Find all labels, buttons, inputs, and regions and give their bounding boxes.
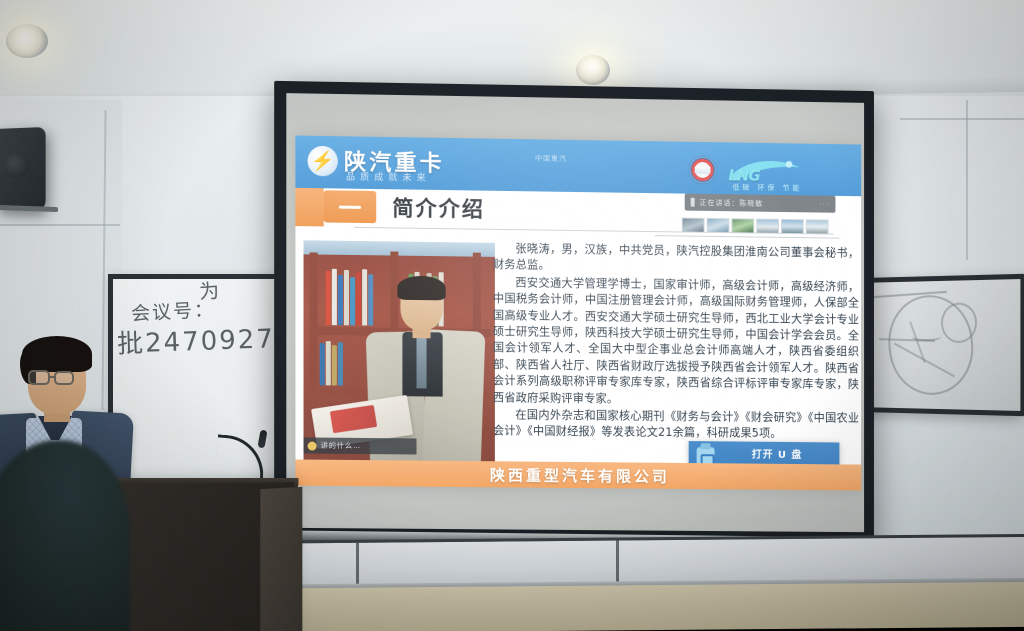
ceiling-downlight-2 [576, 55, 610, 85]
emoji-icon [308, 441, 317, 450]
portrait-photo: 讲的什么… [304, 240, 495, 477]
slide-body-text: 张晓涛，男，汉族，中共党员，陕汽控股集团淮南公司董事会秘书，财务总监。 西安交通… [493, 241, 859, 445]
body-paragraph-2: 西安交通大学管理学博士，国家审计师，高级会计师，高级经济师，中国税务会计师，中国… [493, 275, 859, 410]
partner-logo-subtitle: 低碳 环保 节能 [732, 182, 802, 193]
lightning-circle-icon: ⚡ [308, 146, 338, 177]
brand-logo-subtitle: 品质成就未来 [346, 169, 431, 183]
whiteboard-doodle-circle-small [941, 302, 977, 343]
thumbnail-divider [655, 235, 840, 239]
whiteboard-right [858, 274, 1024, 417]
subject-hair [397, 276, 445, 301]
truck-thumbnail-5 [781, 219, 804, 234]
section-number-tab [324, 190, 376, 223]
body-paragraph-3: 在国内外杂志和国家核心期刊《财务与会计》《财会研究》《中国农业会计》《中国财经报… [493, 407, 859, 443]
whiteboard-mark-5 [912, 329, 941, 341]
podium-side-panel [260, 487, 302, 631]
presenter-glasses-bridge [49, 376, 56, 378]
wall-seam-horizontal-left [0, 224, 120, 226]
speaking-status-text: 正在讲话：陈晓敏 [700, 197, 764, 208]
projection-screen-frame: ⚡ 陕汽重卡 品质成就未来 中国重汽 LNG 低碳 环保 节能 [274, 81, 874, 544]
photo-caption-text: 讲的什么… [321, 441, 361, 451]
usb-toast-title: 打开 U 盘 [752, 446, 803, 461]
truck-thumbnail-2 [707, 218, 730, 233]
banner-center-chip: 中国重汽 [535, 153, 567, 164]
body-paragraph-1: 张晓涛，男，汉族，中共党员，陕汽控股集团淮南公司董事会秘书，财务总监。 [493, 241, 859, 279]
truck-thumbnail-1 [682, 218, 705, 233]
presenter-glasses-right-lens [54, 371, 74, 385]
foreground-attendee-silhouette [0, 440, 130, 631]
certification-emblem-icon [690, 157, 716, 183]
wall-seam-horizontal-right [900, 118, 1024, 120]
company-name-footer: 陕西重型汽车有限公司 [490, 464, 670, 487]
wall-seam-vertical-right [966, 100, 968, 260]
photo-caption-bar: 讲的什么… [304, 437, 417, 454]
photo-wall-top [304, 240, 495, 257]
slide-banner: ⚡ 陕汽重卡 品质成就未来 中国重汽 LNG 低碳 环保 节能 [295, 136, 861, 197]
projection-screen-surface: ⚡ 陕汽重卡 品质成就未来 中国重汽 LNG 低碳 环保 节能 [286, 93, 864, 532]
conference-room-scene: 为 会议号： 批2470927 ⚡ 陕汽重卡 品质成就未来 中国重汽 [0, 0, 1024, 631]
status-ellipsis: ··· [819, 200, 830, 209]
ceiling-downlight-1 [6, 24, 48, 58]
truck-thumbnail-3 [731, 218, 754, 233]
speaking-status-chip: 正在讲话：陈晓敏 ··· [685, 194, 836, 213]
presenter-glasses-left-lens [28, 370, 50, 385]
bookshelf-books-c [320, 341, 343, 385]
truck-thumbnail-4 [756, 219, 779, 234]
slide-footer: 陕西重型汽车有限公司 [295, 459, 861, 490]
truck-thumbnail-6 [806, 219, 829, 234]
thumbnail-strip [682, 218, 829, 235]
presentation-slide: ⚡ 陕汽重卡 品质成就未来 中国重汽 LNG 低碳 环保 节能 [295, 136, 861, 491]
subject-tie [417, 336, 427, 388]
status-indicator-icon [691, 198, 695, 207]
slide-title: 简介介绍 [392, 192, 485, 223]
wall-speaker [0, 127, 46, 211]
